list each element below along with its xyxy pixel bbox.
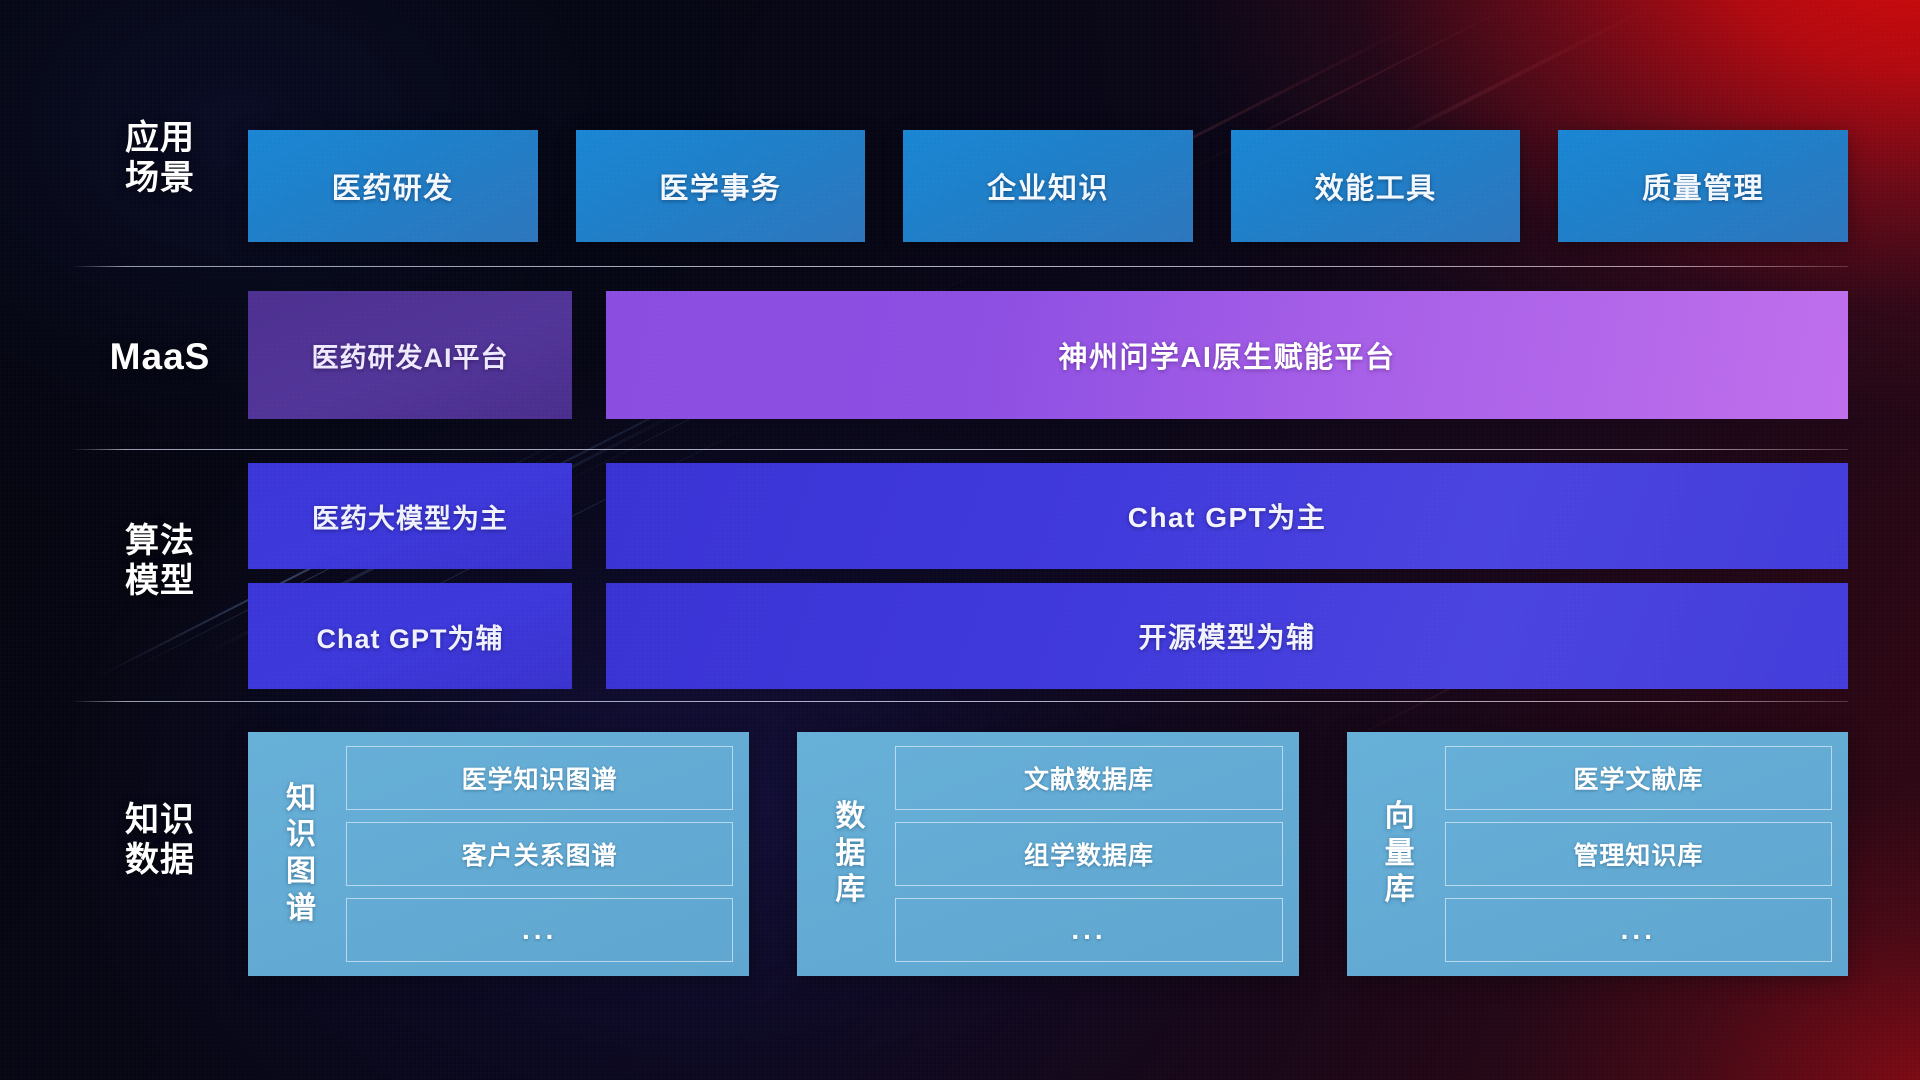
row-label-maas: MaaS xyxy=(72,335,248,379)
application-scenario-boxes: 医药研发 医学事务 企业知识 效能工具 质量管理 xyxy=(248,130,1848,242)
row-label-line: 应用 xyxy=(72,118,248,158)
knowledge-item[interactable]: 医学文献库 xyxy=(1445,746,1832,810)
knowledge-group-vertical-label: 数 据 库 xyxy=(813,746,887,962)
scenario-label: 医学事务 xyxy=(659,165,781,207)
knowledge-item[interactable]: 组学数据库 xyxy=(895,822,1282,886)
row-label-knowledge-data: 知识 数据 xyxy=(72,800,248,880)
knowledge-item-label: ... xyxy=(522,914,557,946)
scenario-box-medical-affairs[interactable]: 医学事务 xyxy=(576,130,866,242)
knowledge-item-more[interactable]: ... xyxy=(895,898,1282,962)
vertical-char: 向 xyxy=(1385,799,1415,836)
row-label-algorithm-model: 算法 模型 xyxy=(72,521,248,601)
knowledge-data-groups: 知 识 图 谱 医学知识图谱 客户关系图谱 ... 数 据 xyxy=(248,732,1848,976)
algo-box-opensource-secondary[interactable]: 开源模型为辅 xyxy=(606,583,1848,689)
divider-maas-algorithm xyxy=(72,449,1848,450)
algorithm-model-row-secondary: Chat GPT为辅 开源模型为辅 xyxy=(248,583,1848,689)
knowledge-item-label: 医学知识图谱 xyxy=(462,760,618,796)
row-label-line: MaaS xyxy=(72,335,248,379)
knowledge-group-items: 医学知识图谱 客户关系图谱 ... xyxy=(338,746,733,962)
vertical-char: 数 xyxy=(835,799,865,836)
scenario-box-efficiency-tools[interactable]: 效能工具 xyxy=(1231,130,1521,242)
knowledge-item-label: ... xyxy=(1071,914,1106,946)
knowledge-item-more[interactable]: ... xyxy=(1445,898,1832,962)
algo-box-chatgpt-secondary[interactable]: Chat GPT为辅 xyxy=(248,583,572,689)
algo-label: 开源模型为辅 xyxy=(1138,616,1315,656)
scenario-box-quality-management[interactable]: 质量管理 xyxy=(1558,130,1848,242)
knowledge-item-label: 组学数据库 xyxy=(1024,836,1154,872)
vertical-char: 图 xyxy=(286,854,316,891)
knowledge-item[interactable]: 医学知识图谱 xyxy=(346,746,733,810)
maas-boxes: 医药研发AI平台 神州问学AI原生赋能平台 xyxy=(248,291,1848,419)
algorithm-model-row-primary: 医药大模型为主 Chat GPT为主 xyxy=(248,463,1848,569)
vertical-char: 知 xyxy=(286,781,316,818)
row-label-line: 知识 xyxy=(72,800,248,840)
maas-left-label: 医药研发AI平台 xyxy=(312,336,509,375)
algo-box-chatgpt-primary[interactable]: Chat GPT为主 xyxy=(606,463,1848,569)
algorithm-model-boxes: 医药大模型为主 Chat GPT为主 Chat GPT为辅 开源模型为辅 xyxy=(248,463,1848,689)
maas-box-shenzhou-wenxue-platform[interactable]: 神州问学AI原生赋能平台 xyxy=(606,291,1848,419)
vertical-char: 库 xyxy=(835,872,865,909)
row-label-line: 模型 xyxy=(72,561,248,601)
knowledge-group-knowledge-graph: 知 识 图 谱 医学知识图谱 客户关系图谱 ... xyxy=(248,732,749,976)
knowledge-group-database: 数 据 库 文献数据库 组学数据库 ... xyxy=(797,732,1298,976)
knowledge-group-vector-store: 向 量 库 医学文献库 管理知识库 ... xyxy=(1347,732,1848,976)
knowledge-group-vertical-label: 向 量 库 xyxy=(1363,746,1437,962)
scenario-label: 效能工具 xyxy=(1315,165,1437,207)
knowledge-item-label: 医学文献库 xyxy=(1573,760,1703,796)
divider-scenario-maas xyxy=(72,266,1848,267)
knowledge-group-items: 医学文献库 管理知识库 ... xyxy=(1437,746,1832,962)
knowledge-item-label: 文献数据库 xyxy=(1024,760,1154,796)
knowledge-item[interactable]: 文献数据库 xyxy=(895,746,1282,810)
algo-label: Chat GPT为辅 xyxy=(316,617,503,656)
scenario-box-medicine-rd[interactable]: 医药研发 xyxy=(248,130,538,242)
knowledge-item-label: 客户关系图谱 xyxy=(462,836,618,872)
vertical-char: 据 xyxy=(835,836,865,873)
scenario-box-enterprise-knowledge[interactable]: 企业知识 xyxy=(903,130,1193,242)
knowledge-item[interactable]: 客户关系图谱 xyxy=(346,822,733,886)
vertical-char: 量 xyxy=(1385,836,1415,873)
vertical-char: 库 xyxy=(1385,872,1415,909)
vertical-char: 识 xyxy=(286,817,316,854)
knowledge-item-more[interactable]: ... xyxy=(346,898,733,962)
knowledge-item-label: 管理知识库 xyxy=(1573,836,1703,872)
scenario-label: 企业知识 xyxy=(987,165,1109,207)
row-label-application-scenario: 应用 场景 xyxy=(72,118,248,198)
algo-label: Chat GPT为主 xyxy=(1128,496,1327,536)
knowledge-group-items: 文献数据库 组学数据库 ... xyxy=(887,746,1282,962)
maas-right-label: 神州问学AI原生赋能平台 xyxy=(1058,334,1395,376)
knowledge-item[interactable]: 管理知识库 xyxy=(1445,822,1832,886)
architecture-diagram-canvas: 应用 场景 医药研发 医学事务 企业知识 效能工具 质量管理 MaaS 医药研发… xyxy=(0,0,1920,1080)
row-label-line: 算法 xyxy=(72,521,248,561)
divider-algorithm-knowledge xyxy=(72,701,1848,702)
vertical-char: 谱 xyxy=(286,891,316,928)
maas-box-pharma-ai-platform[interactable]: 医药研发AI平台 xyxy=(248,291,572,419)
algo-label: 医药大模型为主 xyxy=(312,497,508,536)
scenario-label: 质量管理 xyxy=(1642,165,1764,207)
knowledge-item-label: ... xyxy=(1621,914,1656,946)
knowledge-group-vertical-label: 知 识 图 谱 xyxy=(264,746,338,962)
scenario-label: 医药研发 xyxy=(332,165,454,207)
row-label-line: 数据 xyxy=(72,840,248,880)
row-label-line: 场景 xyxy=(72,158,248,198)
algo-box-pharma-llm-primary[interactable]: 医药大模型为主 xyxy=(248,463,572,569)
